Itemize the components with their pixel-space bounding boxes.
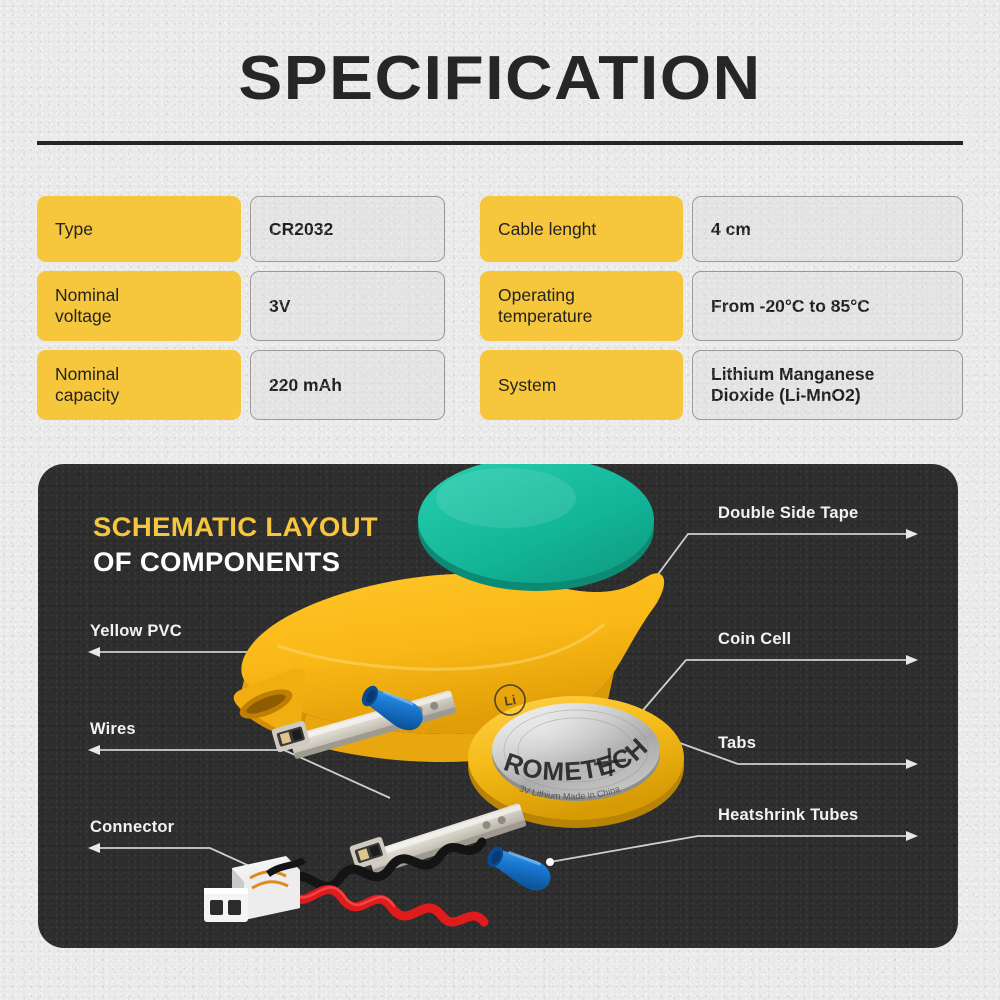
callout-label-heatshrink-tubes: Heatshrink Tubes — [718, 806, 858, 825]
table-row: Cable lenght 4 cm — [480, 196, 963, 262]
table-row: Operating temperature From -20°C to 85°C — [480, 271, 963, 341]
spec-label-system: System — [480, 350, 683, 420]
table-row: Type CR2032 — [37, 196, 445, 262]
spec-value-system-text: Lithium Manganese Dioxide (Li-MnO2) — [711, 364, 874, 406]
title-divider — [37, 141, 963, 145]
callout-label-connector: Connector — [90, 818, 174, 837]
table-row: Nominal capacity 220 mAh — [37, 350, 445, 420]
spec-label-type: Type — [37, 196, 241, 262]
spec-value-cable-lenght-text: 4 cm — [711, 219, 751, 240]
spec-value-nominal-capacity: 220 mAh — [250, 350, 445, 420]
spec-value-nominal-voltage-text: 3V — [269, 296, 290, 317]
spec-label-nominal-capacity: Nominal capacity — [37, 350, 241, 420]
spec-value-operating-temperature-text: From -20°C to 85°C — [711, 296, 870, 317]
spec-value-type: CR2032 — [250, 196, 445, 262]
spec-table-left-column: Type CR2032 Nominal voltage 3V Nominal c… — [37, 196, 445, 429]
callout-label-wires: Wires — [90, 720, 136, 739]
schematic-panel: SCHEMATIC LAYOUT OF COMPONENTS — [38, 464, 958, 948]
spec-value-type-text: CR2032 — [269, 219, 333, 240]
spec-label-cable-lenght: Cable lenght — [480, 196, 683, 262]
spec-value-nominal-capacity-text: 220 mAh — [269, 375, 342, 396]
callout-label-yellow-pvc: Yellow PVC — [90, 622, 182, 641]
page-title: SPECIFICATION — [0, 47, 1000, 111]
table-row: System Lithium Manganese Dioxide (Li-MnO… — [480, 350, 963, 420]
double-side-tape — [418, 464, 654, 591]
spec-value-system: Lithium Manganese Dioxide (Li-MnO2) — [692, 350, 963, 420]
callout-label-coin-cell: Coin Cell — [718, 630, 791, 649]
spec-label-nominal-voltage: Nominal voltage — [37, 271, 241, 341]
spec-value-operating-temperature: From -20°C to 85°C — [692, 271, 963, 341]
spec-value-cable-lenght: 4 cm — [692, 196, 963, 262]
specification-page: SPECIFICATION Type CR2032 Nominal voltag… — [0, 0, 1000, 1000]
spec-table-right-column: Cable lenght 4 cm Operating temperature … — [480, 196, 963, 429]
heatshrink-tube-lower — [483, 841, 556, 896]
callout-label-double-side-tape: Double Side Tape — [718, 504, 858, 523]
spec-value-nominal-voltage: 3V — [250, 271, 445, 341]
exploded-product-illustration: ROMETECH 3V Lithium Made in China Li — [38, 464, 958, 948]
jst-connector — [204, 856, 304, 922]
spec-label-operating-temperature: Operating temperature — [480, 271, 683, 341]
leader-arrowheads-right — [906, 529, 918, 841]
table-row: Nominal voltage 3V — [37, 271, 445, 341]
callout-label-tabs: Tabs — [718, 734, 756, 753]
